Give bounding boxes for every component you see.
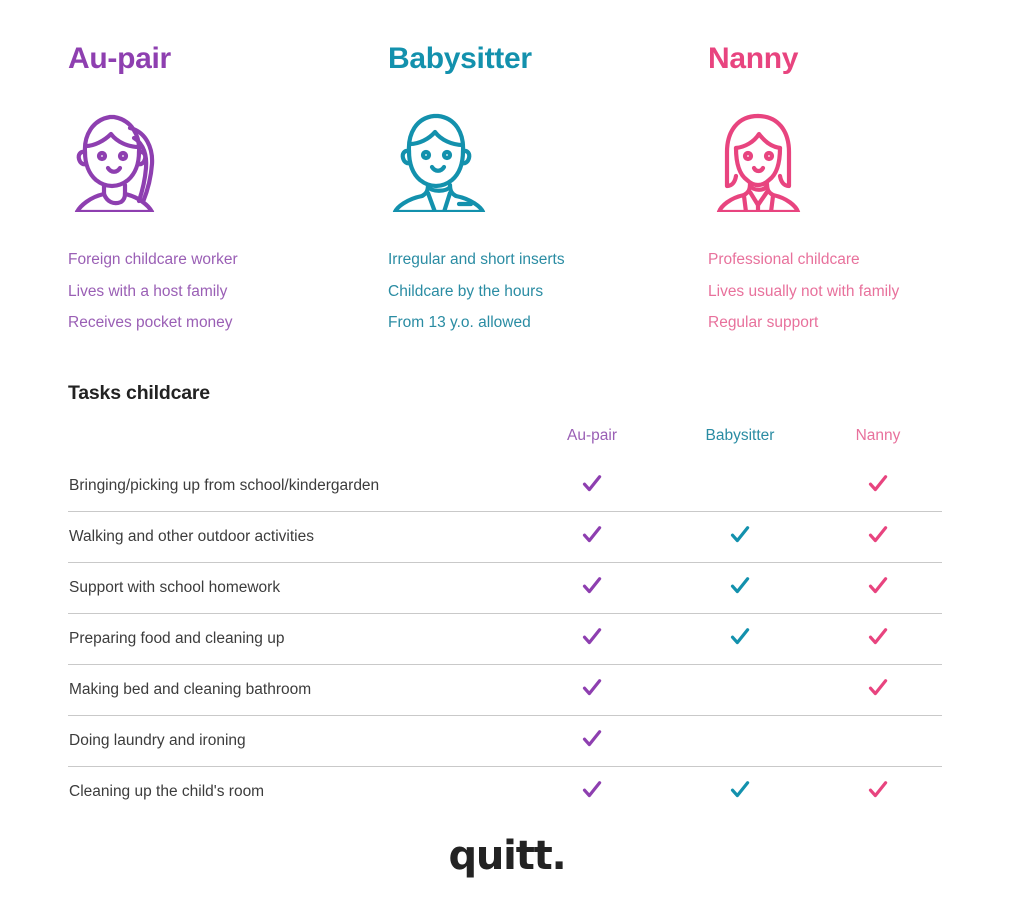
- table-row: Support with school homework: [68, 563, 942, 614]
- profile-point: From 13 y.o. allowed: [388, 307, 708, 339]
- check-babysitter-icon: [729, 626, 751, 648]
- column-header-task: [68, 427, 518, 461]
- woman-ponytail-icon: [68, 108, 388, 212]
- table-row: Making bed and cleaning bathroom: [68, 665, 942, 716]
- cell-nanny: [814, 716, 942, 767]
- profile-column-babysitter: Babysitter: [388, 44, 708, 339]
- task-label: Support with school homework: [68, 563, 518, 614]
- tasks-title: Tasks childcare: [68, 382, 942, 405]
- check-babysitter-icon: [729, 524, 751, 546]
- check-aupair-icon: [581, 626, 603, 648]
- table-row: Bringing/picking up from school/kinderga…: [68, 461, 942, 512]
- tasks-comparison-table: Au-pair Babysitter Nanny Bringing/pickin…: [68, 427, 942, 817]
- column-header-nanny: Nanny: [814, 427, 942, 461]
- check-nanny-icon: [867, 524, 889, 546]
- cell-aupair: [518, 512, 666, 563]
- cell-babysitter: [666, 665, 814, 716]
- cell-babysitter: [666, 614, 814, 665]
- infographic-page: Au-pair: [0, 0, 1014, 914]
- profile-point: Irregular and short inserts: [388, 244, 708, 276]
- profile-point: Professional childcare: [708, 244, 968, 276]
- check-nanny-icon: [867, 473, 889, 495]
- task-label: Preparing food and cleaning up: [68, 614, 518, 665]
- profile-point: Regular support: [708, 307, 968, 339]
- table-row: Preparing food and cleaning up: [68, 614, 942, 665]
- profile-points-babysitter: Irregular and short inserts Childcare by…: [388, 244, 708, 339]
- profile-point: Lives with a host family: [68, 276, 388, 308]
- task-label: Walking and other outdoor activities: [68, 512, 518, 563]
- profile-title-babysitter: Babysitter: [388, 44, 708, 74]
- profile-points-nanny: Professional childcare Lives usually not…: [708, 244, 968, 339]
- cell-aupair: [518, 767, 666, 818]
- profile-column-aupair: Au-pair: [68, 44, 388, 339]
- check-nanny-icon: [867, 779, 889, 801]
- cell-nanny: [814, 665, 942, 716]
- task-label: Making bed and cleaning bathroom: [68, 665, 518, 716]
- column-header-babysitter: Babysitter: [666, 427, 814, 461]
- task-label: Bringing/picking up from school/kinderga…: [68, 461, 518, 512]
- profile-point: Receives pocket money: [68, 307, 388, 339]
- check-aupair-icon: [581, 575, 603, 597]
- cell-nanny: [814, 512, 942, 563]
- profile-point: Lives usually not with family: [708, 276, 968, 308]
- profile-title-aupair: Au-pair: [68, 44, 388, 74]
- woman-bob-hair-icon: [708, 108, 968, 212]
- profile-points-aupair: Foreign childcare worker Lives with a ho…: [68, 244, 388, 339]
- check-aupair-icon: [581, 473, 603, 495]
- check-nanny-icon: [867, 626, 889, 648]
- table-row: Cleaning up the child's room: [68, 767, 942, 818]
- check-aupair-icon: [581, 677, 603, 699]
- table-row: Doing laundry and ironing: [68, 716, 942, 767]
- cell-nanny: [814, 767, 942, 818]
- cell-babysitter: [666, 512, 814, 563]
- profile-point: Childcare by the hours: [388, 276, 708, 308]
- cell-aupair: [518, 716, 666, 767]
- check-babysitter-icon: [729, 575, 751, 597]
- person-short-hair-icon: [388, 108, 708, 212]
- cell-nanny: [814, 563, 942, 614]
- cell-babysitter: [666, 716, 814, 767]
- cell-nanny: [814, 614, 942, 665]
- brand-logo: quitt.: [0, 833, 1014, 879]
- profile-point: Foreign childcare worker: [68, 244, 388, 276]
- cell-babysitter: [666, 563, 814, 614]
- cell-aupair: [518, 665, 666, 716]
- column-header-aupair: Au-pair: [518, 427, 666, 461]
- check-aupair-icon: [581, 524, 603, 546]
- check-aupair-icon: [581, 728, 603, 750]
- cell-aupair: [518, 563, 666, 614]
- profile-title-nanny: Nanny: [708, 44, 968, 74]
- task-label: Doing laundry and ironing: [68, 716, 518, 767]
- check-aupair-icon: [581, 779, 603, 801]
- check-nanny-icon: [867, 677, 889, 699]
- cell-aupair: [518, 614, 666, 665]
- cell-nanny: [814, 461, 942, 512]
- cell-aupair: [518, 461, 666, 512]
- task-label: Cleaning up the child's room: [68, 767, 518, 818]
- profile-columns: Au-pair: [68, 44, 968, 339]
- table-header-row: Au-pair Babysitter Nanny: [68, 427, 942, 461]
- check-babysitter-icon: [729, 779, 751, 801]
- table-body: Bringing/picking up from school/kinderga…: [68, 461, 942, 817]
- check-nanny-icon: [867, 575, 889, 597]
- profile-column-nanny: Nanny: [708, 44, 968, 339]
- tasks-section: Tasks childcare Au-pair Babysitter Nanny…: [68, 382, 942, 817]
- cell-babysitter: [666, 767, 814, 818]
- cell-babysitter: [666, 461, 814, 512]
- table-row: Walking and other outdoor activities: [68, 512, 942, 563]
